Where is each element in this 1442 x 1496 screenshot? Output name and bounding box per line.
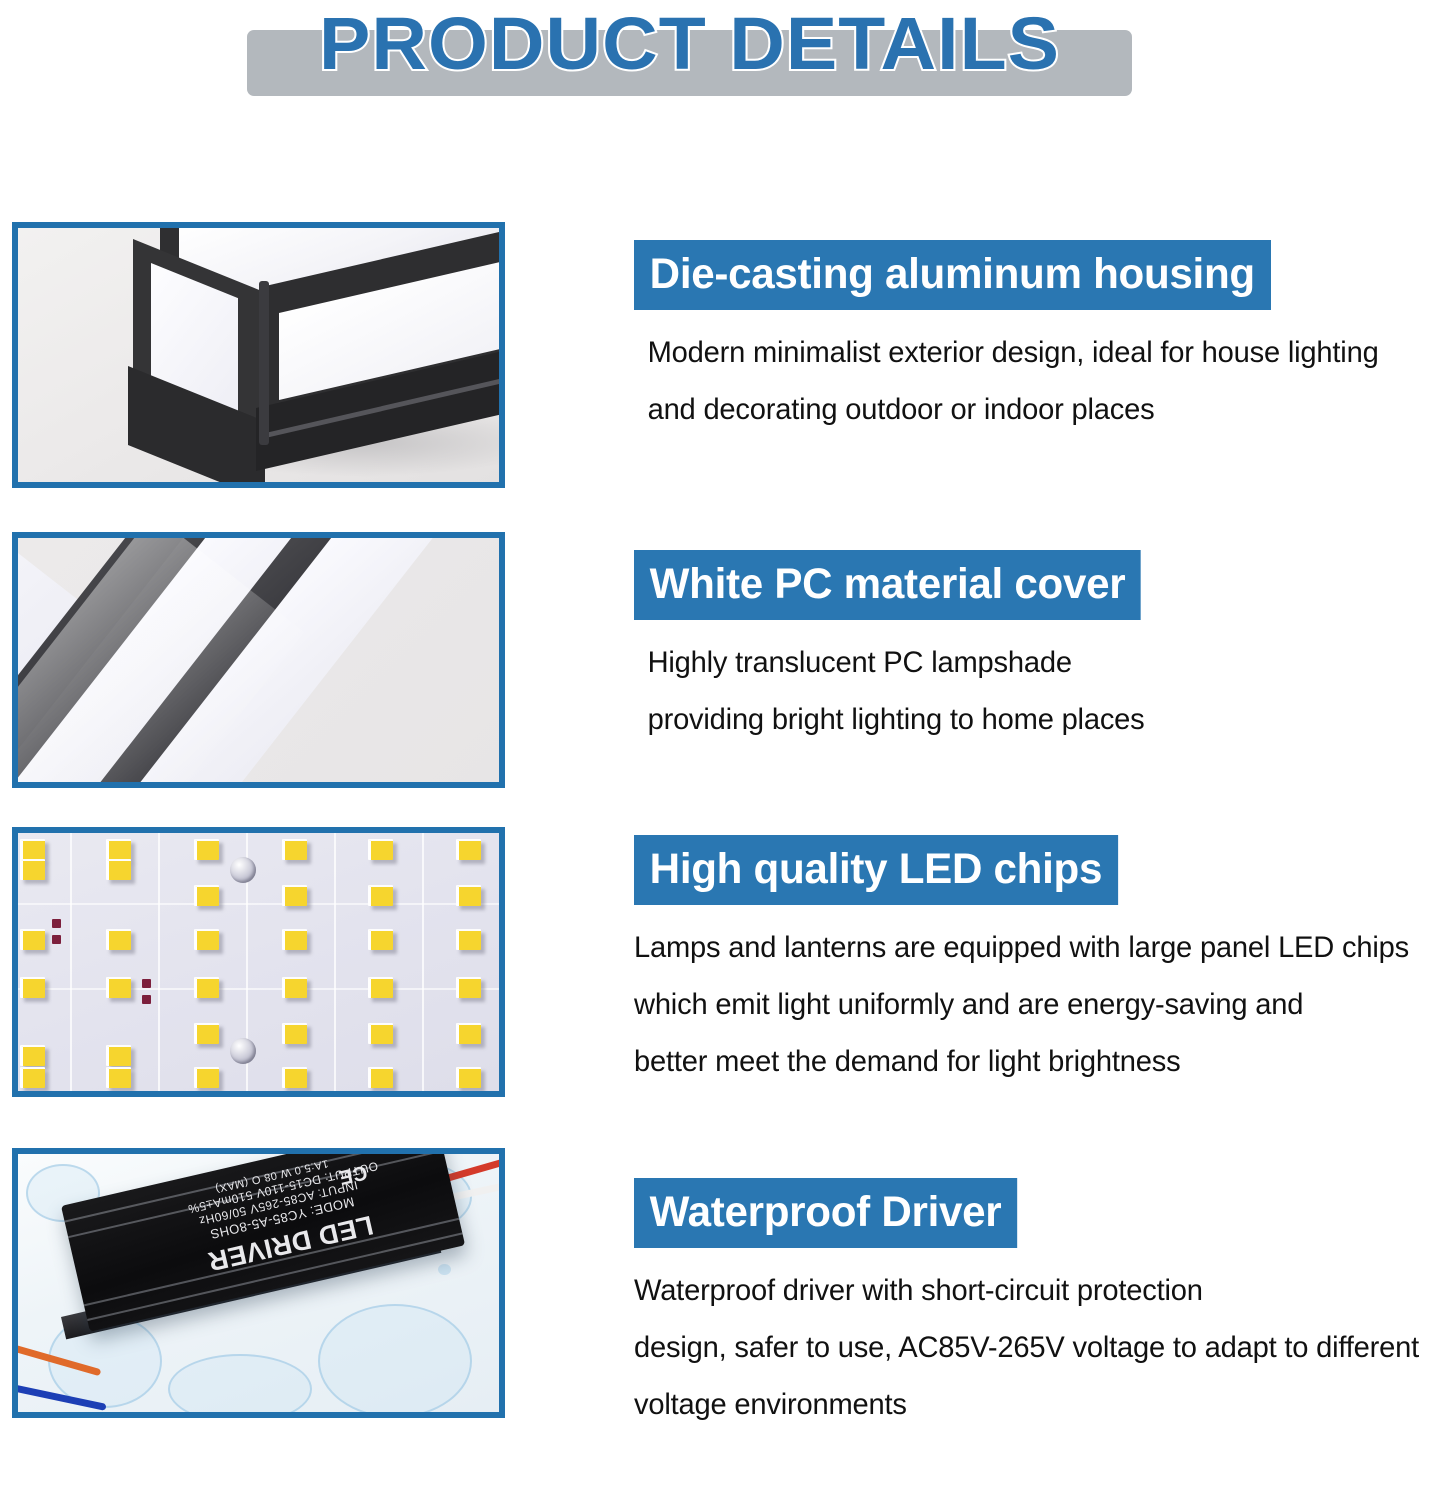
photo-waterproof-driver: LED DRIVER MODE: YC85-A5-8OHS INPUT: AC8…	[12, 1148, 505, 1418]
photo-white-pc-cover	[12, 532, 505, 788]
feature-body-line: and decorating outdoor or indoor places	[634, 381, 1379, 438]
feature-body-line: Highly translucent PC lampshade	[634, 634, 1145, 691]
water-droplet	[438, 1264, 451, 1275]
pcb-background	[18, 833, 499, 1091]
led-chip	[282, 1067, 307, 1088]
feature-text-pc-cover: White PC material cover Highly transluce…	[634, 550, 1160, 748]
water-splash	[318, 1304, 472, 1412]
led-chip	[106, 929, 131, 950]
led-chip	[282, 1023, 307, 1044]
feature-body-pc-cover: Highly translucent PC lampshade providin…	[634, 634, 1145, 748]
pcb-mounting-hole	[230, 1038, 256, 1064]
led-chip	[368, 977, 393, 998]
feature-body-line: which emit light uniformly and are energ…	[634, 976, 1409, 1033]
feature-row-pc-cover: White PC material cover Highly transluce…	[0, 532, 1442, 790]
photo-inner-pc-cover	[18, 538, 499, 782]
led-chip	[368, 929, 393, 950]
feature-row-waterproof-driver: LED DRIVER MODE: YC85-A5-8OHS INPUT: AC8…	[0, 1148, 1442, 1420]
led-chip	[194, 839, 219, 860]
feature-heading-led-chips: High quality LED chips	[634, 835, 1118, 905]
pcb-trace-vertical	[158, 833, 160, 1091]
led-chip	[106, 1045, 131, 1066]
led-chip	[368, 885, 393, 906]
led-chip	[194, 1067, 219, 1088]
ce-mark-icon: CE	[336, 1159, 369, 1188]
pcb-trace-vertical	[422, 833, 424, 1091]
pcb-resistor	[52, 919, 61, 928]
led-chip	[20, 859, 45, 880]
led-chip	[194, 1023, 219, 1044]
photo-inner-housing	[18, 228, 499, 482]
led-chip	[456, 885, 481, 906]
feature-heading-pc-cover: White PC material cover	[634, 550, 1141, 620]
feature-body-housing: Modern minimalist exterior design, ideal…	[634, 324, 1379, 438]
led-chip	[282, 929, 307, 950]
photo-inner-driver: LED DRIVER MODE: YC85-A5-8OHS INPUT: AC8…	[18, 1154, 499, 1412]
led-chip	[456, 929, 481, 950]
led-chip	[106, 839, 131, 860]
page-title: PRODUCT DETAILS	[229, 0, 1149, 90]
led-chip	[20, 839, 45, 860]
led-chip	[456, 1067, 481, 1088]
lamp-corner-edge	[259, 281, 269, 445]
led-chip	[456, 839, 481, 860]
photo-led-chips	[12, 827, 505, 1097]
feature-body-line: Waterproof driver with short-circuit pro…	[634, 1262, 1419, 1319]
led-chip	[456, 1023, 481, 1044]
led-chip	[20, 977, 45, 998]
feature-body-line: Lamps and lanterns are equipped with lar…	[634, 919, 1409, 976]
feature-text-led-chips: High quality LED chips Lamps and lantern…	[634, 835, 1433, 1090]
pcb-mounting-hole	[230, 857, 256, 883]
led-chip	[456, 977, 481, 998]
led-chip	[106, 977, 131, 998]
feature-body-line: better meet the demand for light brightn…	[634, 1033, 1409, 1090]
pcb-resistor	[142, 995, 151, 1004]
feature-heading-housing: Die-casting aluminum housing	[634, 240, 1271, 310]
feature-body-line: design, safer to use, AC85V-265V voltage…	[634, 1319, 1419, 1376]
lamp-housing-graphic	[124, 228, 499, 482]
feature-body-waterproof-driver: Waterproof driver with short-circuit pro…	[634, 1262, 1419, 1433]
page-header: PRODUCT DETAILS	[0, 0, 1442, 110]
led-chip	[20, 1067, 45, 1088]
led-chip	[368, 839, 393, 860]
led-chip	[20, 1045, 45, 1066]
feature-body-led-chips: Lamps and lanterns are equipped with lar…	[634, 919, 1409, 1090]
led-chip	[194, 977, 219, 998]
feature-text-housing: Die-casting aluminum housing Modern mini…	[634, 240, 1402, 438]
photo-inner-led-chips	[18, 833, 499, 1091]
feature-row-housing: Die-casting aluminum housing Modern mini…	[0, 222, 1442, 490]
pcb-trace-horizontal	[18, 988, 499, 990]
led-chip	[194, 885, 219, 906]
led-chip	[106, 859, 131, 880]
pcb-trace-vertical	[334, 833, 336, 1091]
pcb-trace-vertical	[70, 833, 72, 1091]
led-chip	[194, 929, 219, 950]
feature-heading-waterproof-driver: Waterproof Driver	[634, 1178, 1017, 1248]
led-chip	[106, 1067, 131, 1088]
led-chip	[368, 1067, 393, 1088]
led-chip	[20, 929, 45, 950]
photo-die-casting-housing	[12, 222, 505, 488]
feature-body-line: voltage environments	[634, 1376, 1419, 1433]
feature-row-led-chips: High quality LED chips Lamps and lantern…	[0, 827, 1442, 1099]
pcb-trace-horizontal	[18, 903, 499, 905]
feature-body-line: providing bright lighting to home places	[634, 691, 1145, 748]
pcb-resistor	[52, 935, 61, 944]
led-chip	[282, 839, 307, 860]
feature-text-waterproof-driver: Waterproof Driver Waterproof driver with…	[634, 1178, 1442, 1433]
led-chip	[368, 1023, 393, 1044]
led-chip	[282, 885, 307, 906]
led-chip	[282, 977, 307, 998]
feature-body-line: Modern minimalist exterior design, ideal…	[634, 324, 1379, 381]
pcb-resistor	[142, 979, 151, 988]
